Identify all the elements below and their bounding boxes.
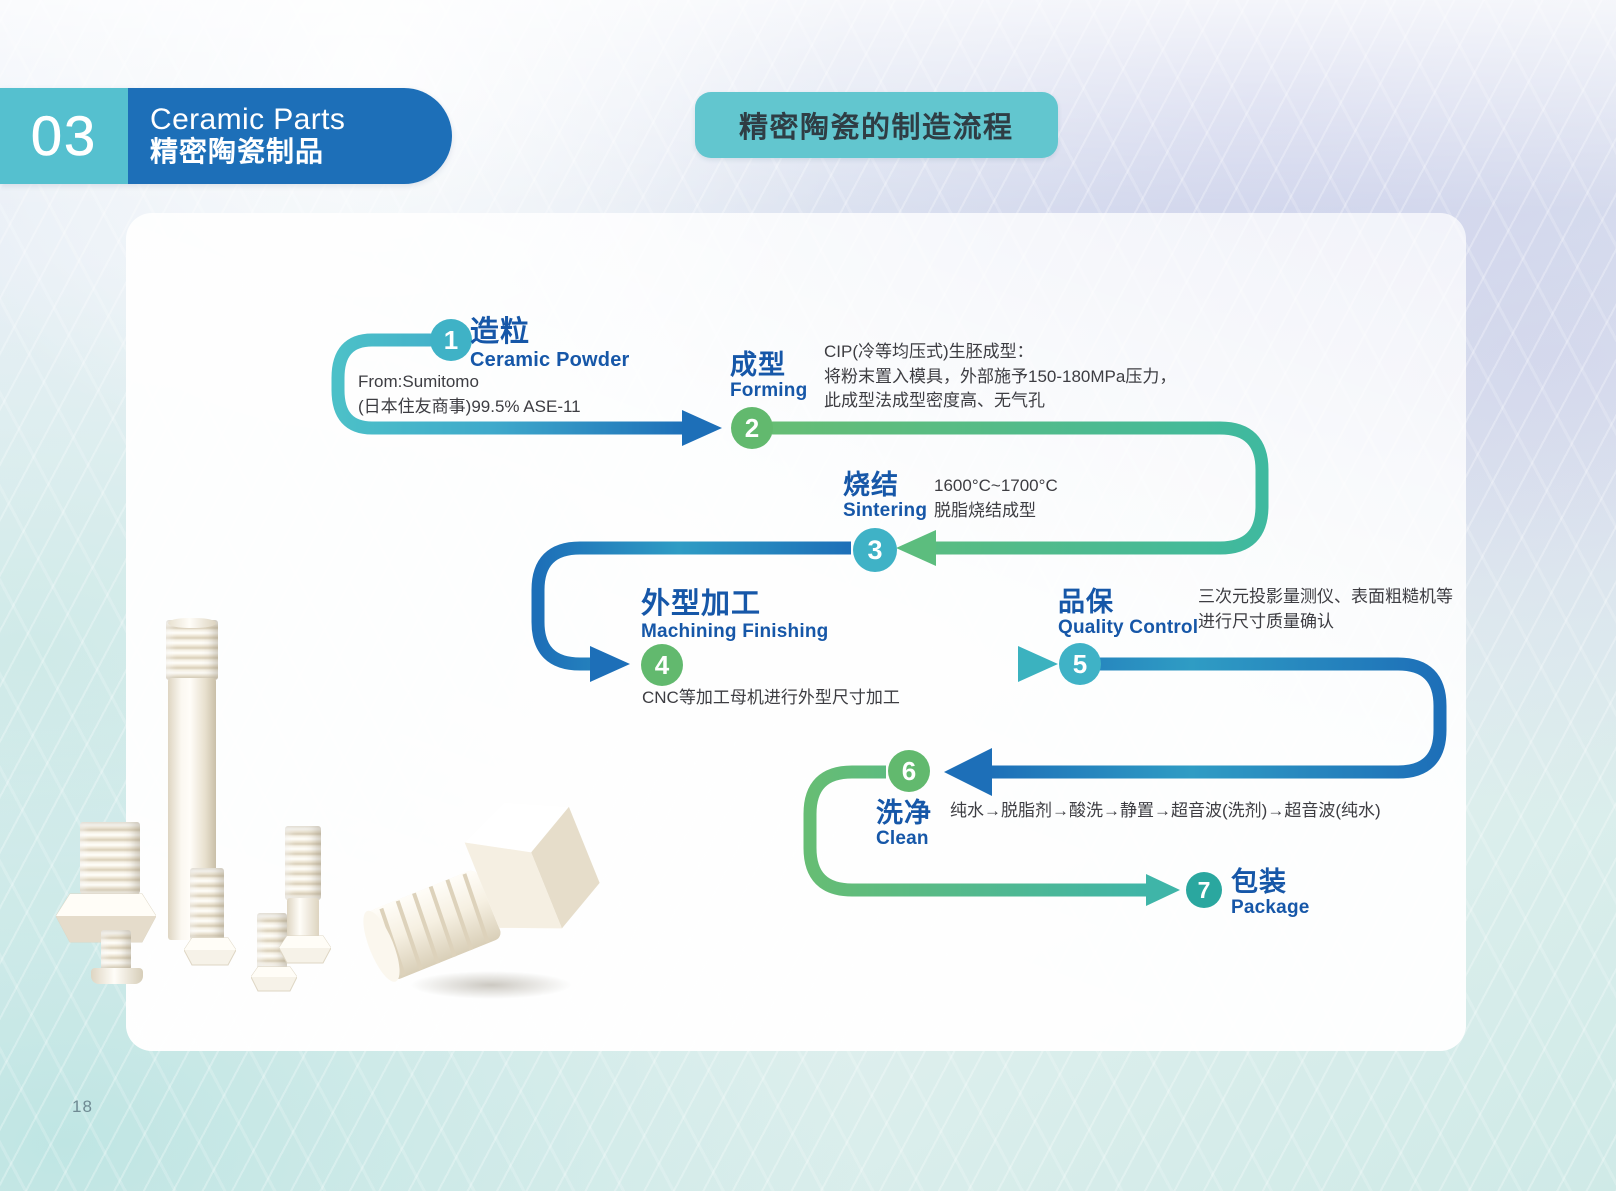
flow-diagram-title-text: 精密陶瓷的制造流程	[739, 104, 1014, 146]
step-5-title-en: Quality Control	[1058, 618, 1198, 638]
step-badge-2: 2	[731, 407, 773, 449]
step-6-title-en: Clean	[876, 829, 932, 849]
section-title-cn: 精密陶瓷制品	[150, 135, 452, 168]
step-6-title-cn: 洗净	[876, 800, 932, 828]
step-2-note: CIP(冷等均压式)生胚成型： 将粉末置入模具，外部施予150-180MPa压力…	[824, 340, 1176, 414]
step-7-title-cn: 包装	[1231, 869, 1310, 897]
step-5-title-cn: 品保	[1058, 589, 1198, 617]
step-4-title-cn: 外型加工	[641, 590, 828, 620]
section-number: 03	[31, 108, 97, 164]
step-label-4: 外型加工 Machining Finishing	[641, 590, 828, 642]
step-badge-3: 3	[853, 528, 897, 572]
step-badge-7: 7	[1186, 872, 1222, 908]
section-number-block: 03	[0, 88, 128, 184]
step-4-title-en: Machining Finishing	[641, 622, 828, 642]
section-title-block: Ceramic Parts 精密陶瓷制品	[128, 88, 452, 184]
step-badge-1: 1	[430, 319, 472, 361]
step-badge-4: 4	[641, 644, 683, 686]
step-1-title-cn: 造粒	[470, 318, 630, 348]
step-label-5: 品保 Quality Control	[1058, 589, 1198, 637]
product-bolt-hero	[336, 780, 616, 1010]
step-3-title-en: Sintering	[843, 501, 927, 521]
step-3-note: 1600°C~1700°C 脱脂烧结成型	[934, 474, 1058, 523]
step-badge-5: 5	[1059, 643, 1101, 685]
step-1-note: From:Sumitomo (日本住友商事)99.5% ASE-11	[358, 370, 581, 419]
page-number: 18	[72, 1097, 93, 1117]
step-label-7: 包装 Package	[1231, 869, 1310, 917]
step-label-1: 造粒 Ceramic Powder	[470, 318, 630, 371]
step-3-title-cn: 烧结	[843, 472, 927, 500]
step-4-note: CNC等加工母机进行外型尺寸加工	[642, 686, 900, 711]
step-5-note: 三次元投影量测仪、表面粗糙机等 进行尺寸质量确认	[1198, 585, 1453, 634]
step-1-title-en: Ceramic Powder	[470, 350, 630, 371]
product-photo-group	[36, 600, 636, 1030]
step-label-2: 成型 Forming	[730, 352, 807, 400]
page-root: 03 Ceramic Parts 精密陶瓷制品 精密陶瓷的制造流程	[0, 0, 1616, 1191]
step-label-3: 烧结 Sintering	[843, 472, 927, 520]
section-title-en: Ceramic Parts	[150, 104, 452, 136]
section-header-chip: 03 Ceramic Parts 精密陶瓷制品	[0, 88, 452, 184]
step-label-6: 洗净 Clean	[876, 800, 932, 848]
step-2-title-cn: 成型	[730, 352, 807, 380]
flow-diagram-title: 精密陶瓷的制造流程	[695, 92, 1058, 158]
step-7-title-en: Package	[1231, 898, 1310, 918]
step-2-title-en: Forming	[730, 381, 807, 401]
step-badge-6: 6	[888, 750, 930, 792]
step-6-note: 纯水→脱脂剂→酸洗→静置→超音波(洗剂)→超音波(纯水)	[950, 799, 1381, 824]
